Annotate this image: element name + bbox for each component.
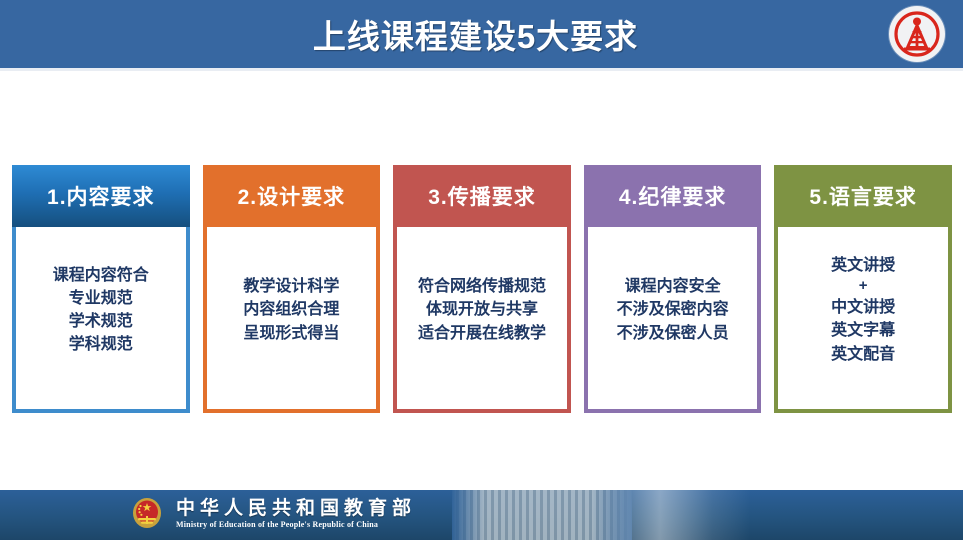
card-5-line-2: + <box>859 277 868 296</box>
page-title: 上线课程建设5大要求 <box>313 10 638 58</box>
card-2-header: 2.设计要求 <box>203 165 381 227</box>
card-1-header: 1.内容要求 <box>12 165 190 227</box>
requirement-card-3[interactable]: 3.传播要求 符合网络传播规范 体现开放与共享 适合开展在线教学 <box>393 165 571 413</box>
card-5-line-5: 英文配音 <box>831 343 895 366</box>
ministry-name-en: Ministry of Education of the People's Re… <box>176 521 416 529</box>
card-3-header: 3.传播要求 <box>393 165 571 227</box>
slide-canvas: 上线课程建设5大要求 1.内容要求 课程内容符合 专业规范 学术规范 学科规范 <box>0 0 963 540</box>
card-1-line-2: 专业规范 <box>69 287 133 310</box>
ministry-name-block: 中华人民共和国教育部 Ministry of Education of the … <box>176 499 416 529</box>
card-4-line-1: 课程内容安全 <box>625 275 721 298</box>
national-emblem <box>128 493 166 535</box>
card-3-line-1: 符合网络传播规范 <box>418 275 546 298</box>
university-logo <box>889 6 945 62</box>
card-1-line-1: 课程内容符合 <box>53 264 149 287</box>
footer-band: 中华人民共和国教育部 Ministry of Education of the … <box>0 490 963 540</box>
card-2-line-3: 呈现形式得当 <box>243 322 339 345</box>
requirement-card-2[interactable]: 2.设计要求 教学设计科学 内容组织合理 呈现形式得当 <box>203 165 381 413</box>
card-3-line-3: 适合开展在线教学 <box>418 322 546 345</box>
footer-content: 中华人民共和国教育部 Ministry of Education of the … <box>128 493 416 535</box>
card-4-line-3: 不涉及保密人员 <box>617 322 729 345</box>
card-3-body: 符合网络传播规范 体现开放与共享 适合开展在线教学 <box>397 227 567 409</box>
card-2-line-2: 内容组织合理 <box>243 298 339 321</box>
card-5-header: 5.语言要求 <box>774 165 952 227</box>
card-3-line-2: 体现开放与共享 <box>426 298 538 321</box>
card-1-line-3: 学术规范 <box>69 310 133 333</box>
university-emblem-icon <box>892 9 942 59</box>
card-5-body: 英文讲授 + 中文讲授 英文字幕 英文配音 <box>778 227 948 409</box>
ministry-name-cn: 中华人民共和国教育部 <box>176 499 416 518</box>
card-5-line-3: 中文讲授 <box>831 296 895 319</box>
card-4-line-2: 不涉及保密内容 <box>617 298 729 321</box>
card-1-line-4: 学科规范 <box>69 333 133 356</box>
requirement-cards: 1.内容要求 课程内容符合 专业规范 学术规范 学科规范 2.设计要求 教学设计… <box>12 165 952 413</box>
card-4-header: 4.纪律要求 <box>584 165 762 227</box>
requirement-card-4[interactable]: 4.纪律要求 课程内容安全 不涉及保密内容 不涉及保密人员 <box>584 165 762 413</box>
title-bar: 上线课程建设5大要求 <box>0 0 963 68</box>
card-2-line-1: 教学设计科学 <box>243 275 339 298</box>
card-2-body: 教学设计科学 内容组织合理 呈现形式得当 <box>207 227 377 409</box>
card-5-line-1: 英文讲授 <box>831 254 895 277</box>
card-4-body: 课程内容安全 不涉及保密内容 不涉及保密人员 <box>588 227 758 409</box>
national-emblem-icon <box>129 494 165 534</box>
card-1-body: 课程内容符合 专业规范 学术规范 学科规范 <box>16 227 186 409</box>
title-bar-underline <box>0 68 963 71</box>
requirement-card-1[interactable]: 1.内容要求 课程内容符合 专业规范 学术规范 学科规范 <box>12 165 190 413</box>
requirement-card-5[interactable]: 5.语言要求 英文讲授 + 中文讲授 英文字幕 英文配音 <box>774 165 952 413</box>
card-5-line-4: 英文字幕 <box>831 319 895 342</box>
footer-gloss-highlight <box>600 490 750 540</box>
